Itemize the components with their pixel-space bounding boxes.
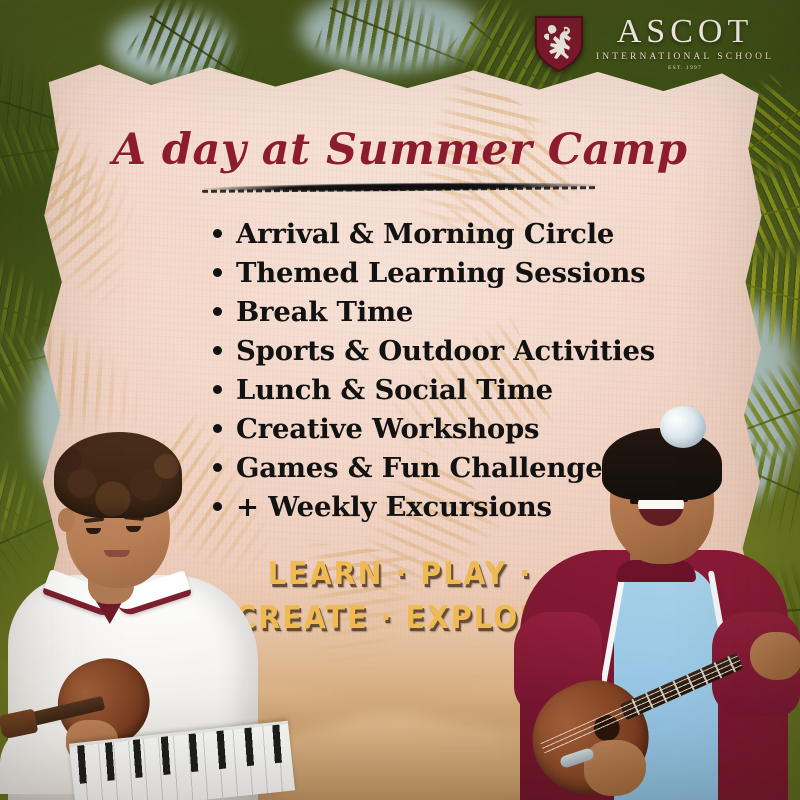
- bullet-dot-icon: [213, 385, 222, 394]
- brand-subtitle: INTERNATIONAL SCHOOL: [596, 53, 774, 63]
- list-item: Arrival & Morning Circle: [213, 218, 760, 257]
- list-item: Sports & Outdoor Activities: [213, 335, 760, 374]
- list-item-label: Arrival & Morning Circle: [236, 218, 614, 250]
- ascot-logo[interactable]: ASCOT INTERNATIONAL SCHOOL EST. 1997: [534, 14, 774, 72]
- bullet-dot-icon: [213, 268, 222, 277]
- bullet-dot-icon: [213, 229, 222, 238]
- bullet-dot-icon: [213, 307, 222, 316]
- hair-scrunchie-icon: [660, 406, 706, 448]
- bullet-dot-icon: [213, 346, 222, 355]
- page-title: A day at Summer Camp: [0, 125, 800, 175]
- list-item: Themed Learning Sessions: [213, 257, 760, 296]
- list-item-label: Break Time: [236, 296, 413, 328]
- list-item-label: Themed Learning Sessions: [236, 257, 646, 289]
- photo-boy-playing-ukulele: [0, 400, 292, 800]
- list-item: Break Time: [213, 296, 760, 335]
- photo-girl-playing-ukulele: [506, 380, 800, 800]
- brand-name: ASCOT: [617, 15, 753, 49]
- list-item-label: Sports & Outdoor Activities: [236, 335, 655, 367]
- shield-lion-crest-icon: [534, 14, 584, 72]
- title-underline: [198, 181, 602, 194]
- summer-camp-poster: ASCOT INTERNATIONAL SCHOOL EST. 1997 A d…: [0, 0, 800, 800]
- brand-established: EST. 1997: [668, 66, 702, 72]
